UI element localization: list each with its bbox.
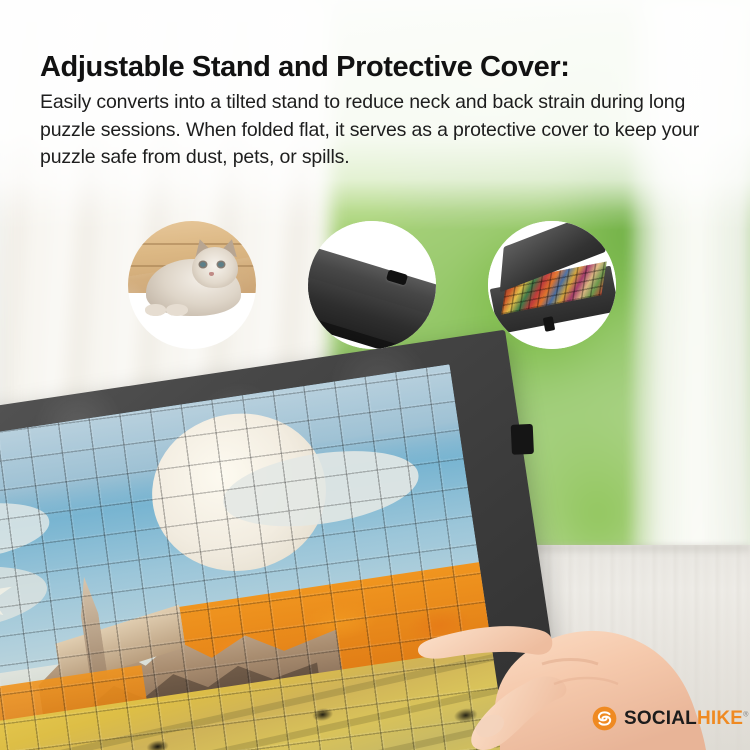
cat-head bbox=[192, 247, 238, 288]
feature-description: Easily converts into a tilted stand to r… bbox=[40, 89, 730, 171]
cat-eye bbox=[200, 262, 206, 267]
registered-trademark-symbol: ® bbox=[743, 712, 748, 719]
inset-circle-open-cover bbox=[488, 221, 616, 349]
product-feature-image: Adjustable Stand and Protective Cover: E… bbox=[0, 0, 750, 750]
stand-inset-photo bbox=[308, 221, 436, 349]
cat-paw bbox=[166, 304, 188, 316]
feature-text-block: Adjustable Stand and Protective Cover: E… bbox=[40, 52, 730, 171]
cat-inset-photo bbox=[128, 221, 256, 349]
spiral-s-circle-icon bbox=[592, 706, 617, 731]
mat-tab bbox=[247, 325, 256, 340]
page-title: Adjustable Stand and Protective Cover: bbox=[40, 52, 730, 83]
brand-logo: SOCIALHIKE® bbox=[592, 706, 749, 731]
brand-name-hike: HIKE bbox=[697, 708, 743, 729]
inset-circle-folded-stand bbox=[308, 221, 436, 349]
inset-circle-cat-on-mat bbox=[128, 221, 256, 349]
cat-eye bbox=[218, 262, 224, 267]
brand-name-social: SOCIAL bbox=[624, 708, 697, 729]
board-side-tab bbox=[511, 424, 534, 455]
cover-inset-photo bbox=[488, 221, 616, 349]
cat-paw bbox=[145, 304, 167, 316]
brand-wordmark: SOCIALHIKE® bbox=[624, 709, 749, 728]
